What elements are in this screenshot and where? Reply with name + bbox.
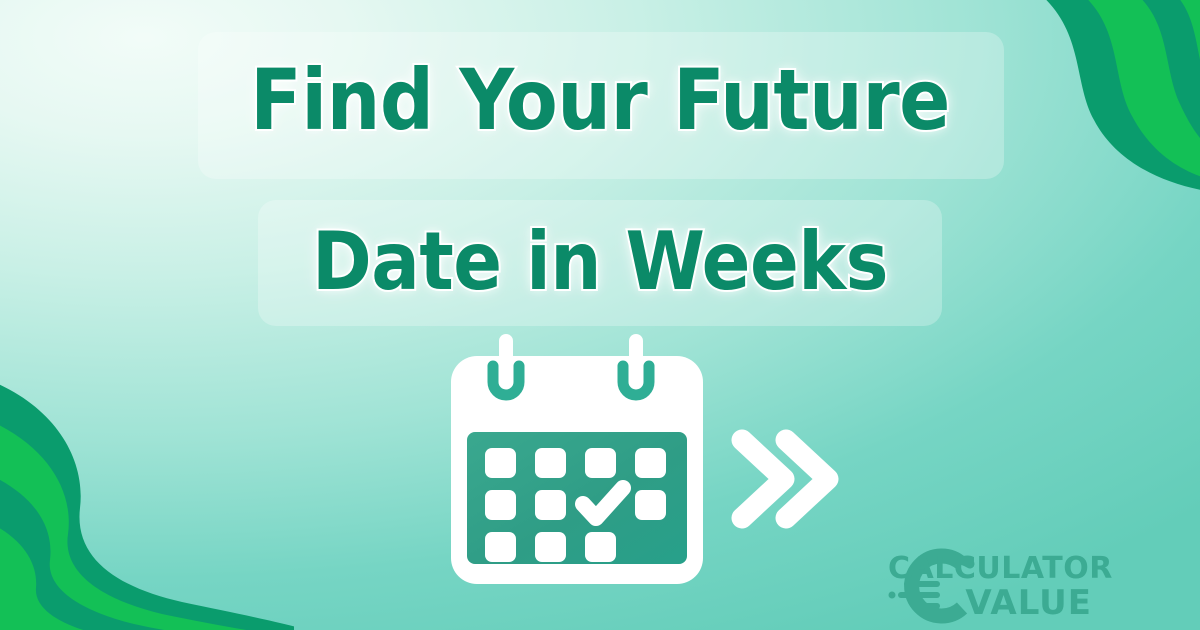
- logo-word-calculator: CALCULATOR: [888, 554, 1092, 584]
- calendar-cell-r1c3: [585, 448, 616, 478]
- wave-bottom-left-deep: [0, 378, 294, 630]
- chevron-right-1: [742, 440, 784, 518]
- calendar-check-icon: [443, 332, 711, 594]
- double-chevron-right-icon: [726, 424, 846, 534]
- calendar-cell-r1c4: [635, 448, 666, 478]
- wave-bottom-left: [0, 374, 294, 630]
- wave-bottom-left-deep-2: [0, 472, 260, 630]
- calendar-cell-r3c2: [535, 532, 566, 562]
- calendar-cell-r2c1: [485, 490, 516, 520]
- calendar-cell-r3c3: [585, 532, 616, 562]
- calendar-cell-r1c1: [485, 448, 516, 478]
- headline-line-2: Date in Weeks: [0, 208, 1200, 316]
- brand-logo[interactable]: CALCULATOR VALUE: [888, 548, 1188, 624]
- calendar-cell-r2c4: [635, 490, 666, 520]
- wave-bottom-left-bright-2: [0, 520, 124, 630]
- wave-bottom-left-bright: [0, 418, 294, 630]
- calendar-cell-r3c1: [485, 532, 516, 562]
- headline-line-1: Find Your Future: [0, 44, 1200, 156]
- logo-word-value: VALUE: [888, 586, 1092, 620]
- calendar-cell-r2c2: [535, 490, 566, 520]
- calendar-cell-r1c2: [535, 448, 566, 478]
- banner-canvas: Find Your Future Date in Weeks: [0, 0, 1200, 630]
